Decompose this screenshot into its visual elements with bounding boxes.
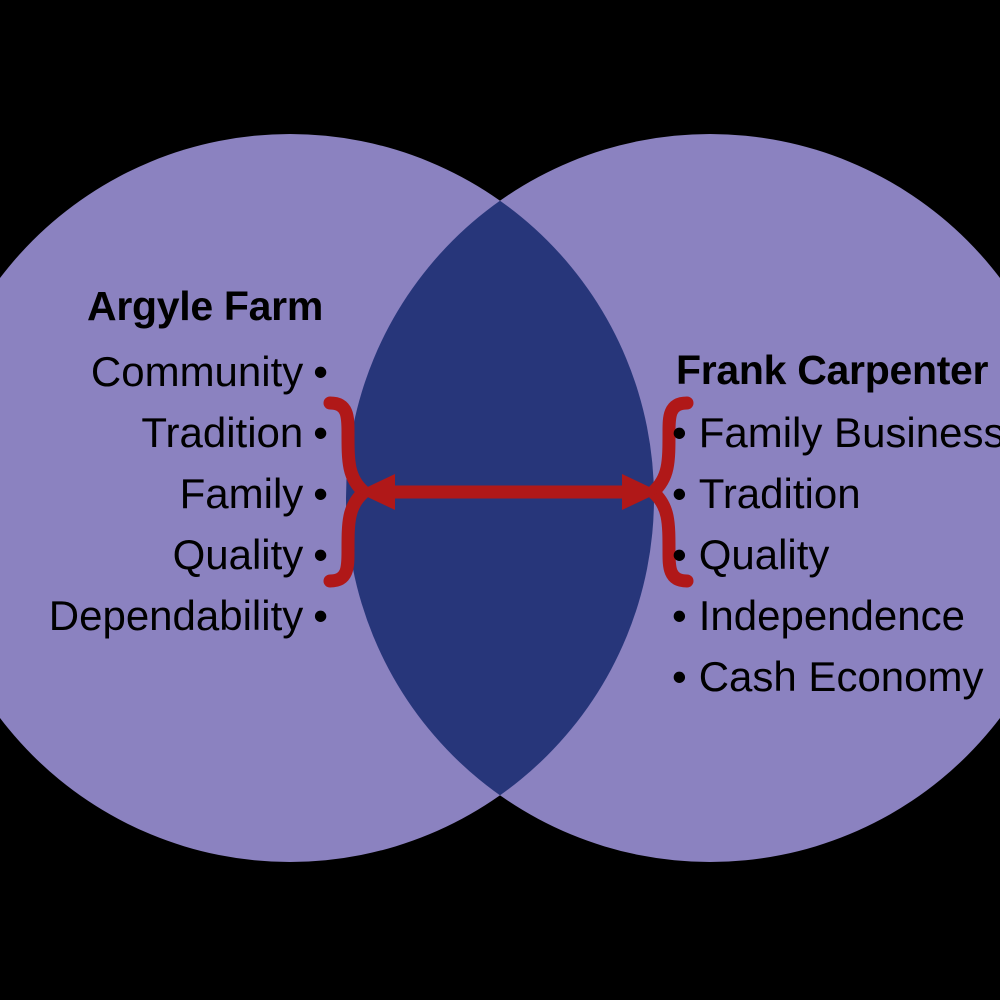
- left-list-item-family: Family•: [180, 473, 328, 515]
- left-item-label: Dependability: [49, 592, 304, 639]
- right-list-item-cash-economy: •Cash Economy: [672, 656, 984, 698]
- right-list-item-family-business: •Family Business: [672, 412, 1000, 454]
- right-item-label: Quality: [699, 531, 830, 578]
- left-list-item-quality: Quality•: [173, 534, 328, 576]
- bullet-icon: •: [313, 473, 328, 515]
- left-list-item-dependability: Dependability•: [49, 595, 328, 637]
- right-item-label: Cash Economy: [699, 653, 984, 700]
- bullet-icon: •: [313, 351, 328, 393]
- right-item-label: Independence: [699, 592, 965, 639]
- right-list-item-quality: •Quality: [672, 534, 829, 576]
- right-list-item-independence: •Independence: [672, 595, 965, 637]
- left-item-label: Community: [91, 348, 303, 395]
- left-item-label: Family: [180, 470, 304, 517]
- right-item-label: Family Business: [699, 409, 1000, 456]
- left-list-item-tradition: Tradition•: [141, 412, 328, 454]
- bullet-icon: •: [672, 595, 687, 637]
- bullet-icon: •: [313, 412, 328, 454]
- bullet-icon: •: [672, 473, 687, 515]
- bullet-icon: •: [672, 534, 687, 576]
- right-item-label: Tradition: [699, 470, 861, 517]
- left-list-item-community: Community•: [91, 351, 328, 393]
- bullet-icon: •: [672, 656, 687, 698]
- venn-diagram-canvas: Argyle Farm Community• Tradition• Family…: [0, 0, 1000, 1000]
- bullet-icon: •: [672, 412, 687, 454]
- right-list-item-tradition: •Tradition: [672, 473, 861, 515]
- left-item-label: Quality: [173, 531, 304, 578]
- right-set-title: Frank Carpenter: [676, 350, 988, 391]
- left-item-label: Tradition: [141, 409, 303, 456]
- bullet-icon: •: [313, 534, 328, 576]
- left-set-title: Argyle Farm: [0, 286, 410, 327]
- bullet-icon: •: [313, 595, 328, 637]
